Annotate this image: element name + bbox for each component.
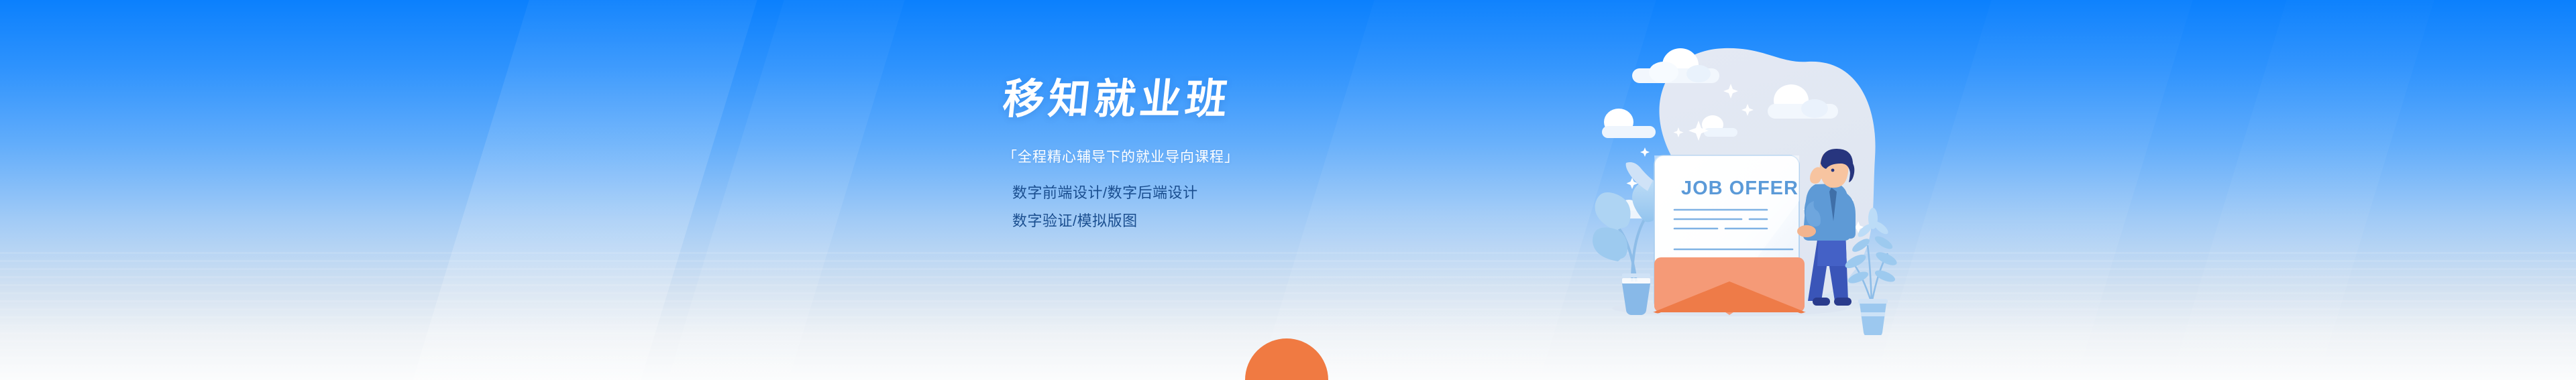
list-item: 数字前端设计/数字后端设计 bbox=[1012, 186, 1513, 200]
light-streak bbox=[2143, 0, 2459, 380]
light-streak bbox=[641, 0, 930, 380]
orange-dome-accent bbox=[1245, 338, 1328, 380]
job-offer-envelope-illustration: JOB OFFER bbox=[1543, 0, 1919, 335]
banner-copy: 移知就业班 「全程精心辅导下的就业导向课程」 数字前端设计/数字后端设计 数字验… bbox=[1003, 79, 1513, 242]
promo-banner: 移知就业班 「全程精心辅导下的就业导向课程」 数字前端设计/数字后端设计 数字验… bbox=[0, 0, 2576, 380]
cloud-icon bbox=[1602, 109, 1656, 138]
banner-bullet-list: 数字前端设计/数字后端设计 数字验证/模拟版图 bbox=[1012, 186, 1513, 229]
envelope bbox=[1653, 257, 1806, 315]
list-item: 数字验证/模拟版图 bbox=[1012, 214, 1513, 229]
banner-subtitle: 「全程精心辅导下的就业导向课程」 bbox=[1003, 149, 1513, 166]
light-streak bbox=[386, 0, 782, 380]
letter-heading: JOB OFFER bbox=[1681, 178, 1799, 199]
page-title: 移知就业班 bbox=[1001, 79, 1515, 121]
